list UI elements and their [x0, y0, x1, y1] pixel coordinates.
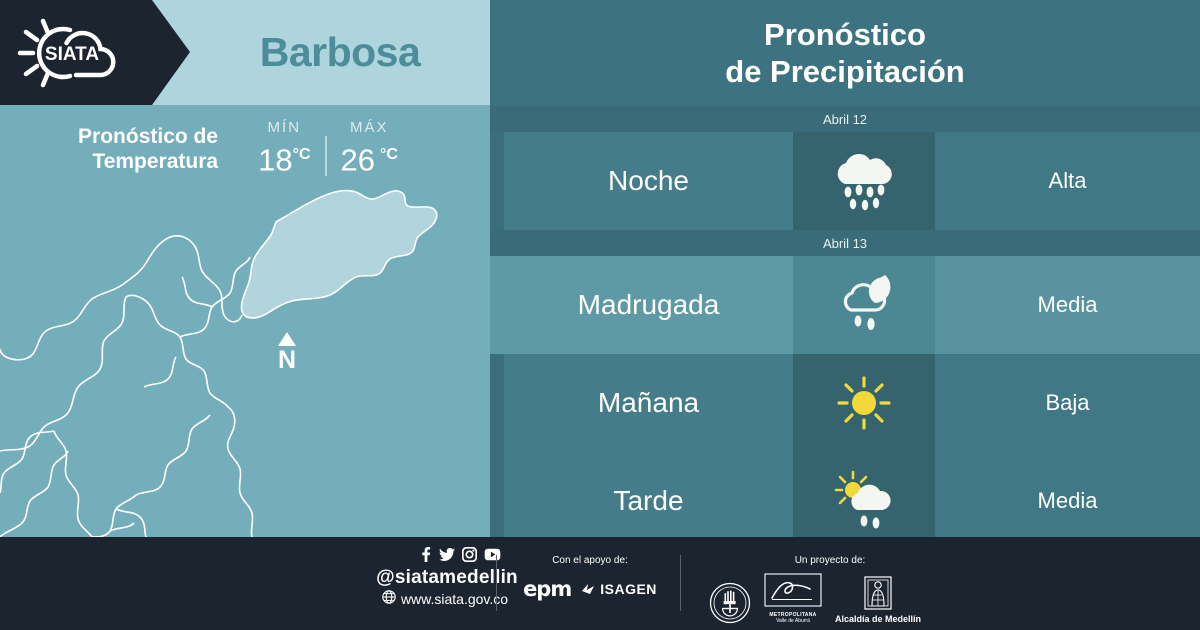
precipitation-level: Media: [935, 256, 1200, 354]
twitter-icon[interactable]: [439, 548, 455, 567]
alcaldia-shield-icon: [863, 576, 893, 612]
precipitation-title-line1: Pronóstico: [764, 17, 926, 52]
temperature-divider: [325, 136, 327, 176]
sun-icon: [793, 354, 935, 452]
row-pad-left: [490, 256, 504, 354]
isagen-logo[interactable]: ISAGEN: [581, 581, 657, 597]
project-block: Un proyecto de:: [700, 553, 930, 624]
compass-label: N: [278, 347, 296, 373]
weather-forecast-poster: SIATA Barbosa Pronóstico de Temperatura …: [0, 0, 1200, 630]
left-header-bar: SIATA Barbosa: [0, 0, 490, 105]
period-label: Tarde: [504, 452, 793, 550]
facebook-icon[interactable]: [419, 547, 432, 567]
map-region-4: [126, 295, 228, 407]
table-row[interactable]: Mañana: [490, 354, 1200, 452]
temperature-max-value: 26: [341, 142, 375, 177]
period-label: Mañana: [504, 354, 793, 452]
temperature-max-value-group: 26°C: [341, 138, 398, 177]
project-caption: Un proyecto de:: [700, 553, 930, 569]
moon-cloud-rain-icon: [793, 256, 935, 354]
sun-cloud-rain-icon: [793, 452, 935, 550]
area-sub2: Valle de Aburrá: [763, 618, 823, 624]
alcaldia-medellin-logo[interactable]: Alcaldía de Medellín: [835, 576, 921, 624]
temperature-min-value-group: 18°C: [258, 138, 310, 177]
epm-logo[interactable]: epm: [523, 577, 571, 601]
project-logos: METROPOLITANA Valle de Aburrá Alcaldía d…: [700, 573, 930, 624]
map-region-9: [116, 509, 146, 537]
map-region-6: [228, 407, 253, 537]
udea-seal-icon[interactable]: [709, 582, 751, 624]
sun-cloud-icon: SIATA: [14, 13, 134, 93]
row-pad-left: [490, 354, 504, 452]
globe-icon: [382, 590, 396, 608]
isagen-text: ISAGEN: [600, 581, 657, 597]
footer-divider-2: [680, 555, 681, 611]
youtube-icon[interactable]: [484, 548, 501, 566]
map-region-10: [54, 431, 92, 537]
temperature-panel: SIATA Barbosa Pronóstico de Temperatura …: [0, 0, 490, 537]
map-region-12: [0, 451, 68, 537]
precipitation-header: Pronóstico de Precipitación: [490, 0, 1200, 106]
map-region-15: [182, 277, 212, 307]
temperature-title-line1: Pronóstico de: [78, 124, 218, 149]
precipitation-level: Alta: [935, 132, 1200, 230]
isagen-mark-icon: [581, 582, 597, 596]
date-band: Abril 12: [490, 106, 1200, 132]
date-label: Abril 12: [823, 112, 867, 127]
map-region-7: [136, 415, 210, 495]
row-pad-left: [490, 452, 504, 550]
map-region-1: [168, 236, 242, 322]
map-region-14: [110, 523, 134, 531]
compass-rose: N: [278, 332, 296, 373]
temperature-title-line2: Temperatura: [78, 149, 218, 174]
forecast-table: Abril 12 Noche: [490, 106, 1200, 550]
precipitation-level: Media: [935, 452, 1200, 550]
siata-logo-text: SIATA: [45, 44, 99, 65]
city-name: Barbosa: [190, 0, 490, 105]
date-label: Abril 13: [823, 236, 867, 251]
heavy-rain-cloud-icon: [793, 132, 935, 230]
table-row[interactable]: Noche: [490, 132, 1200, 230]
footer-divider-1: [496, 555, 497, 611]
support-block: Con el apoyo de: epm ISAGEN: [510, 553, 670, 601]
table-row[interactable]: Tarde: [490, 452, 1200, 550]
compass-arrow-icon: [278, 332, 296, 346]
area-metropolitana-logo[interactable]: METROPOLITANA Valle de Aburrá: [763, 573, 823, 624]
support-caption: Con el apoyo de:: [510, 553, 670, 569]
date-band: Abril 13: [490, 230, 1200, 256]
temperature-max: MÁX 26°C: [327, 118, 412, 177]
row-pad-left: [490, 132, 504, 230]
alcaldia-name: Alcaldía de Medellín: [835, 614, 921, 624]
temperature-min-label: MÍN: [258, 118, 310, 138]
temperature-min-unit: °C: [293, 146, 311, 163]
temperature-max-label: MÁX: [341, 118, 398, 138]
siata-logo-badge[interactable]: SIATA: [0, 0, 190, 105]
precipitation-title-line2: de Precipitación: [725, 54, 964, 89]
map-region-3: [0, 297, 126, 451]
precipitation-level: Baja: [935, 354, 1200, 452]
temperature-min: MÍN 18°C: [244, 118, 324, 177]
support-logos: epm ISAGEN: [510, 577, 670, 601]
precipitation-title: Pronóstico de Precipitación: [725, 16, 964, 90]
temperature-title: Pronóstico de Temperatura: [78, 118, 218, 174]
table-row[interactable]: Madrugada Media: [490, 256, 1200, 354]
aburra-valley-map[interactable]: N: [0, 175, 490, 537]
website-url: www.siata.gov.co: [401, 590, 508, 608]
temperature-max-unit: °C: [380, 146, 398, 163]
precipitation-panel: Pronóstico de Precipitación Abril 12 Noc…: [490, 0, 1200, 537]
temperature-min-value: 18: [258, 142, 292, 177]
map-region-5: [180, 257, 250, 337]
period-label: Noche: [504, 132, 793, 230]
map-region-barbosa: [241, 191, 436, 318]
period-label: Madrugada: [504, 256, 793, 354]
area-logo-mark: [764, 573, 822, 607]
instagram-icon[interactable]: [462, 547, 477, 567]
map-region-8: [92, 495, 136, 537]
map-region-11: [0, 431, 54, 493]
map-region-13: [144, 357, 176, 387]
map-svg: [0, 175, 490, 537]
